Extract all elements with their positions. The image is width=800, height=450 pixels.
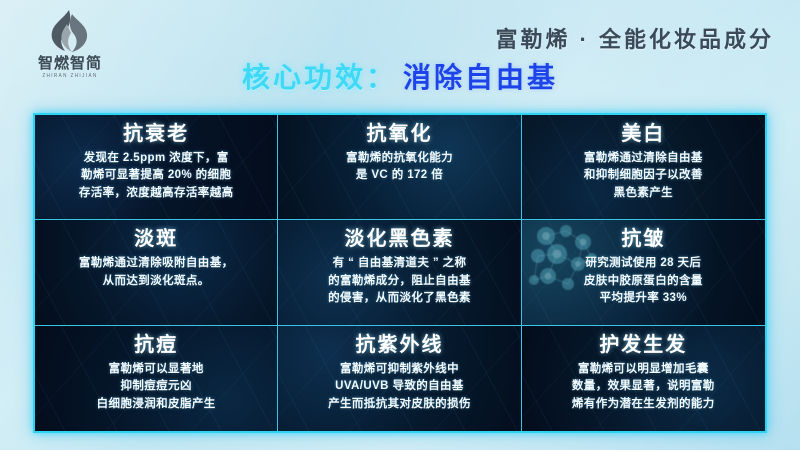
- benefit-cell: 美白 富勒烯通过清除自由基 和抑制细胞因子以改善 黑色素产生: [522, 115, 765, 220]
- slide-canvas: 智燃智简 ZHIRAN ZHIJIAN 富勒烯 · 全能化妆品成分 核心功效：消…: [0, 0, 800, 450]
- benefit-body: 富勒烯可以显著地 抑制痘痘元凶 白细胞浸润和皮脂产生: [43, 361, 269, 413]
- benefit-body: 富勒烯可以明显增加毛囊 数量，效果显著，说明富勒 烯有作为潜在生发剂的能力: [530, 361, 757, 413]
- benefit-title: 护发生发: [530, 333, 757, 358]
- benefit-title: 美白: [530, 122, 757, 147]
- page-title-highlight: 消除自由基: [403, 62, 558, 93]
- benefit-cell: 抗氧化 富勒烯的抗氧化能力 是 VC 的 172 倍: [278, 115, 521, 220]
- benefit-cell: 护发生发 富勒烯可以明显增加毛囊 数量，效果显著，说明富勒 烯有作为潜在生发剂的…: [522, 326, 765, 431]
- benefit-cell: 抗痘 富勒烯可以显著地 抑制痘痘元凶 白细胞浸润和皮脂产生: [35, 326, 278, 431]
- benefit-cell: 抗紫外线 富勒烯可抑制紫外线中 UVA/UVB 导致的自由基 产生而抵抗其对皮肤…: [278, 326, 521, 431]
- page-title: 核心功效：消除自由基: [0, 63, 800, 94]
- benefit-title: 淡斑: [43, 227, 269, 252]
- benefit-body: 富勒烯通过清除自由基 和抑制细胞因子以改善 黑色素产生: [530, 150, 757, 202]
- flame-logo-icon: [39, 8, 101, 54]
- benefit-body: 富勒烯通过清除吸附自由基， 从而达到淡化斑点。: [43, 255, 269, 290]
- benefit-body: 富勒烯可抑制紫外线中 UVA/UVB 导致的自由基 产生而抵抗其对皮肤的损伤: [286, 361, 512, 413]
- header-tagline: 富勒烯 · 全能化妆品成分: [495, 22, 774, 54]
- benefit-cell: 淡化黑色素 有 “ 自由基清道夫 ” 之称 的富勒烯成分，阻止自由基 的侵害，从…: [278, 220, 521, 325]
- benefit-cell: 淡斑 富勒烯通过清除吸附自由基， 从而达到淡化斑点。: [35, 220, 278, 325]
- benefit-title: 抗皱: [530, 227, 757, 252]
- benefit-title: 抗氧化: [286, 122, 512, 147]
- benefits-grid: 抗衰老 发现在 2.5ppm 浓度下，富 勒烯可显著提高 20% 的细胞 存活率…: [33, 113, 767, 433]
- benefit-body: 研究测试使用 28 天后 皮肤中胶原蛋白的含量 平均提升率 33%: [530, 255, 757, 307]
- benefit-title: 淡化黑色素: [286, 227, 512, 252]
- benefit-title: 抗衰老: [43, 122, 269, 147]
- benefit-body: 富勒烯的抗氧化能力 是 VC 的 172 倍: [286, 150, 512, 185]
- benefit-title: 抗痘: [43, 333, 269, 358]
- benefit-body: 发现在 2.5ppm 浓度下，富 勒烯可显著提高 20% 的细胞 存活率，浓度越…: [43, 150, 269, 202]
- benefit-cell: 抗皱 研究测试使用 28 天后 皮肤中胶原蛋白的含量 平均提升率 33%: [522, 220, 765, 325]
- benefit-cell: 抗衰老 发现在 2.5ppm 浓度下，富 勒烯可显著提高 20% 的细胞 存活率…: [35, 115, 278, 220]
- benefit-body: 有 “ 自由基清道夫 ” 之称 的富勒烯成分，阻止自由基 的侵害，从而淡化了黑色…: [286, 255, 512, 307]
- benefit-title: 抗紫外线: [286, 333, 512, 358]
- page-title-label: 核心功效：: [242, 62, 397, 93]
